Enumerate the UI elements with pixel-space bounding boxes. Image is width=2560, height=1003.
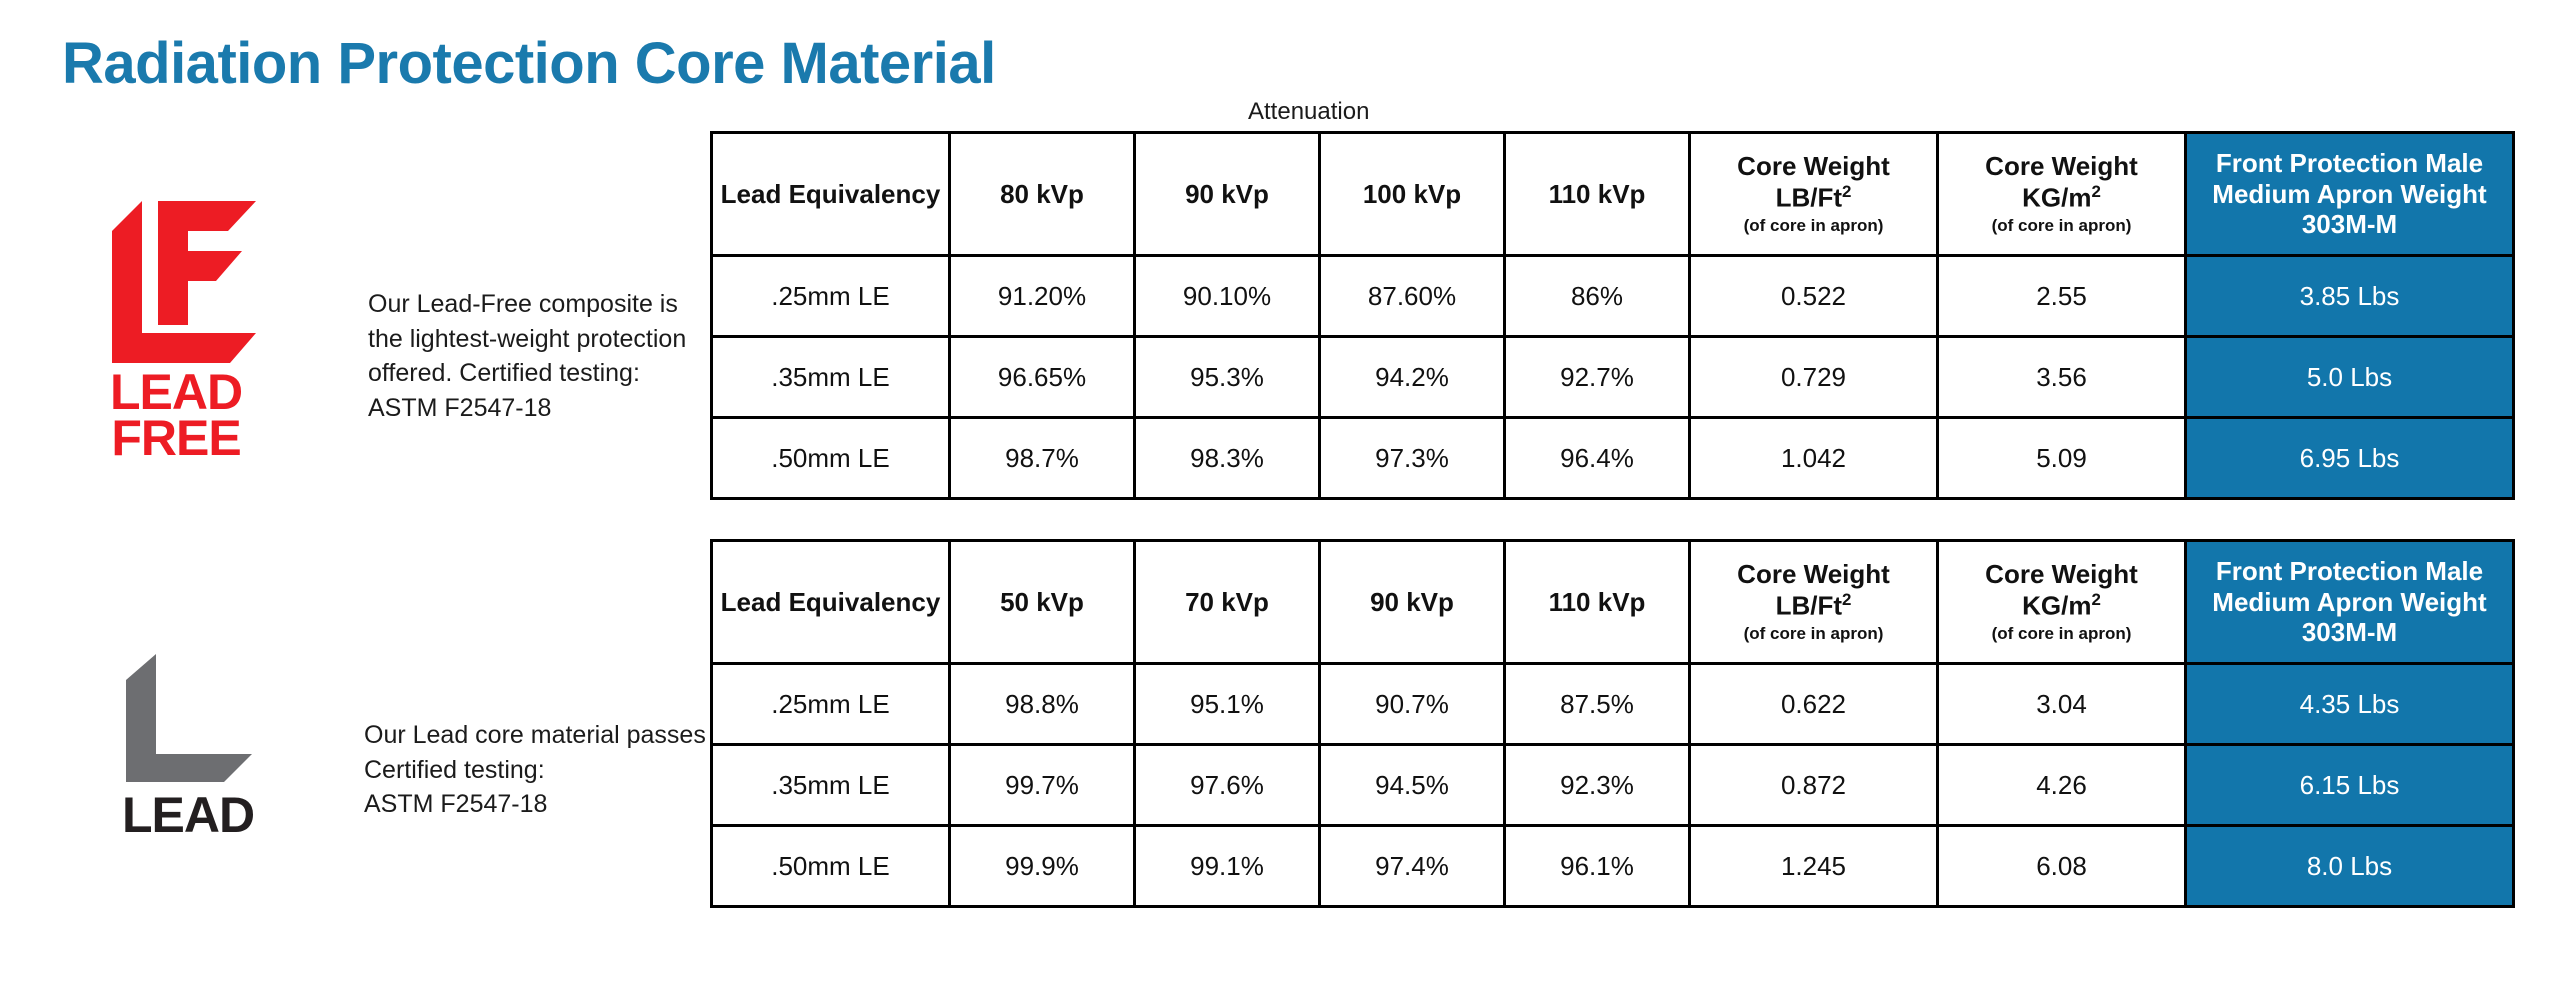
cell-core-weight-kgm2: 3.04 [1938, 664, 2186, 745]
cell-attenuation-1: 99.7% [950, 745, 1135, 826]
col-header-core-weight-lbft: Core Weight LB/Ft2 (of core in apron) [1690, 541, 1938, 664]
cell-attenuation-1: 91.20% [950, 256, 1135, 337]
cell-attenuation-1: 98.7% [950, 418, 1135, 499]
table-row: ​.50mm LE 98.7% 98.3% 97.3% 96.4% 1.042 … [712, 418, 2514, 499]
cell-apron-weight: 5.0 Lbs [2186, 337, 2514, 418]
cell-attenuation-3: 94.2% [1320, 337, 1505, 418]
col-header-kvp-1: 80 kVp [950, 133, 1135, 256]
table-row: ​.35mm LE 99.7% 97.6% 94.5% 92.3% 0.872 … [712, 745, 2514, 826]
lead-free-logo-word: LEAD FREE [96, 369, 256, 461]
col-header-core-weight-kgm2: Core Weight KG/m2 (of core in apron) [1938, 133, 2186, 256]
cell-core-weight-lbft: 0.872 [1690, 745, 1938, 826]
cell-core-weight-lbft: 1.245 [1690, 826, 1938, 907]
brand-block-lead: LEAD Our Lead core material passes Certi… [112, 650, 764, 838]
cell-attenuation-2: 95.3% [1135, 337, 1320, 418]
cell-attenuation-3: 90.7% [1320, 664, 1505, 745]
cell-attenuation-4: 92.7% [1505, 337, 1690, 418]
cell-attenuation-3: 94.5% [1320, 745, 1505, 826]
col-header-kvp-2: 70 kVp [1135, 541, 1320, 664]
cell-apron-weight: 3.85 Lbs [2186, 256, 2514, 337]
col-header-lead-equivalency: Lead Equivalency [712, 133, 950, 256]
table-row: ​.25mm LE 98.8% 95.1% 90.7% 87.5% 0.622 … [712, 664, 2514, 745]
col-header-front-protection: Front Protection Male Medium Apron Weigh… [2186, 541, 2514, 664]
brand-block-lead-free: LEAD FREE Our Lead-Free composite is the… [96, 185, 748, 461]
lead-free-logo: LEAD FREE [96, 185, 256, 461]
cell-attenuation-2: 98.3% [1135, 418, 1320, 499]
cell-attenuation-4: 96.4% [1505, 418, 1690, 499]
page-title: Radiation Protection Core Material [62, 30, 996, 97]
cell-apron-weight: 8.0 Lbs [2186, 826, 2514, 907]
table-row: ​.50mm LE 99.9% 99.1% 97.4% 96.1% 1.245 … [712, 826, 2514, 907]
cell-attenuation-2: 90.10% [1135, 256, 1320, 337]
lead-logo: LEAD [112, 650, 264, 838]
cell-lead-equivalency: ​.35mm LE [712, 337, 950, 418]
col-header-kvp-4: 110 kVp [1505, 541, 1690, 664]
cell-core-weight-lbft: 1.042 [1690, 418, 1938, 499]
lead-free-description: Our Lead-Free composite is the lightest-… [368, 287, 748, 425]
cell-lead-equivalency: ​.25mm LE [712, 256, 950, 337]
lead-free-spec-table: Lead Equivalency 80 kVp 90 kVp 100 kVp 1… [710, 131, 2515, 500]
cell-core-weight-kgm2: 3.56 [1938, 337, 2186, 418]
cell-core-weight-lbft: 0.729 [1690, 337, 1938, 418]
cell-lead-equivalency: ​.50mm LE [712, 826, 950, 907]
lf-logo-icon [96, 185, 256, 365]
cell-apron-weight: 6.95 Lbs [2186, 418, 2514, 499]
col-header-kvp-3: 90 kVp [1320, 541, 1505, 664]
col-header-kvp-1: 50 kVp [950, 541, 1135, 664]
cell-attenuation-1: 96.65% [950, 337, 1135, 418]
l-logo-icon [112, 650, 252, 790]
attenuation-label: Attenuation [1248, 98, 1369, 126]
cell-attenuation-3: 97.3% [1320, 418, 1505, 499]
cell-attenuation-3: 97.4% [1320, 826, 1505, 907]
col-header-kvp-4: 110 kVp [1505, 133, 1690, 256]
table-row: ​.25mm LE 91.20% 90.10% 87.60% 86% 0.522… [712, 256, 2514, 337]
page-root: Radiation Protection Core Material Atten… [0, 0, 2560, 1003]
cell-core-weight-kgm2: 4.26 [1938, 745, 2186, 826]
cell-core-weight-kgm2: 2.55 [1938, 256, 2186, 337]
cell-core-weight-kgm2: 6.08 [1938, 826, 2186, 907]
col-header-kvp-3: 100 kVp [1320, 133, 1505, 256]
col-header-lead-equivalency: Lead Equivalency [712, 541, 950, 664]
lead-spec-table: Lead Equivalency 50 kVp 70 kVp 90 kVp 11… [710, 539, 2515, 908]
cell-attenuation-2: 97.6% [1135, 745, 1320, 826]
cell-lead-equivalency: ​.50mm LE [712, 418, 950, 499]
cell-apron-weight: 6.15 Lbs [2186, 745, 2514, 826]
col-header-front-protection: Front Protection Male Medium Apron Weigh… [2186, 133, 2514, 256]
cell-core-weight-kgm2: 5.09 [1938, 418, 2186, 499]
cell-attenuation-2: 99.1% [1135, 826, 1320, 907]
table-header-row: Lead Equivalency 50 kVp 70 kVp 90 kVp 11… [712, 541, 2514, 664]
table-header-row: Lead Equivalency 80 kVp 90 kVp 100 kVp 1… [712, 133, 2514, 256]
cell-lead-equivalency: ​.35mm LE [712, 745, 950, 826]
lead-description: Our Lead core material passes Certified … [364, 718, 764, 822]
col-header-core-weight-lbft: Core Weight LB/Ft2 (of core in apron) [1690, 133, 1938, 256]
cell-attenuation-4: 86% [1505, 256, 1690, 337]
cell-attenuation-2: 95.1% [1135, 664, 1320, 745]
cell-attenuation-4: 87.5% [1505, 664, 1690, 745]
col-header-core-weight-kgm2: Core Weight KG/m2 (of core in apron) [1938, 541, 2186, 664]
cell-core-weight-lbft: 0.522 [1690, 256, 1938, 337]
table-row: ​.35mm LE 96.65% 95.3% 94.2% 92.7% 0.729… [712, 337, 2514, 418]
cell-attenuation-4: 96.1% [1505, 826, 1690, 907]
cell-attenuation-3: 87.60% [1320, 256, 1505, 337]
cell-attenuation-1: 98.8% [950, 664, 1135, 745]
cell-lead-equivalency: ​.25mm LE [712, 664, 950, 745]
cell-apron-weight: 4.35 Lbs [2186, 664, 2514, 745]
cell-attenuation-1: 99.9% [950, 826, 1135, 907]
cell-core-weight-lbft: 0.622 [1690, 664, 1938, 745]
cell-attenuation-4: 92.3% [1505, 745, 1690, 826]
col-header-kvp-2: 90 kVp [1135, 133, 1320, 256]
lead-logo-word: LEAD [112, 792, 264, 838]
